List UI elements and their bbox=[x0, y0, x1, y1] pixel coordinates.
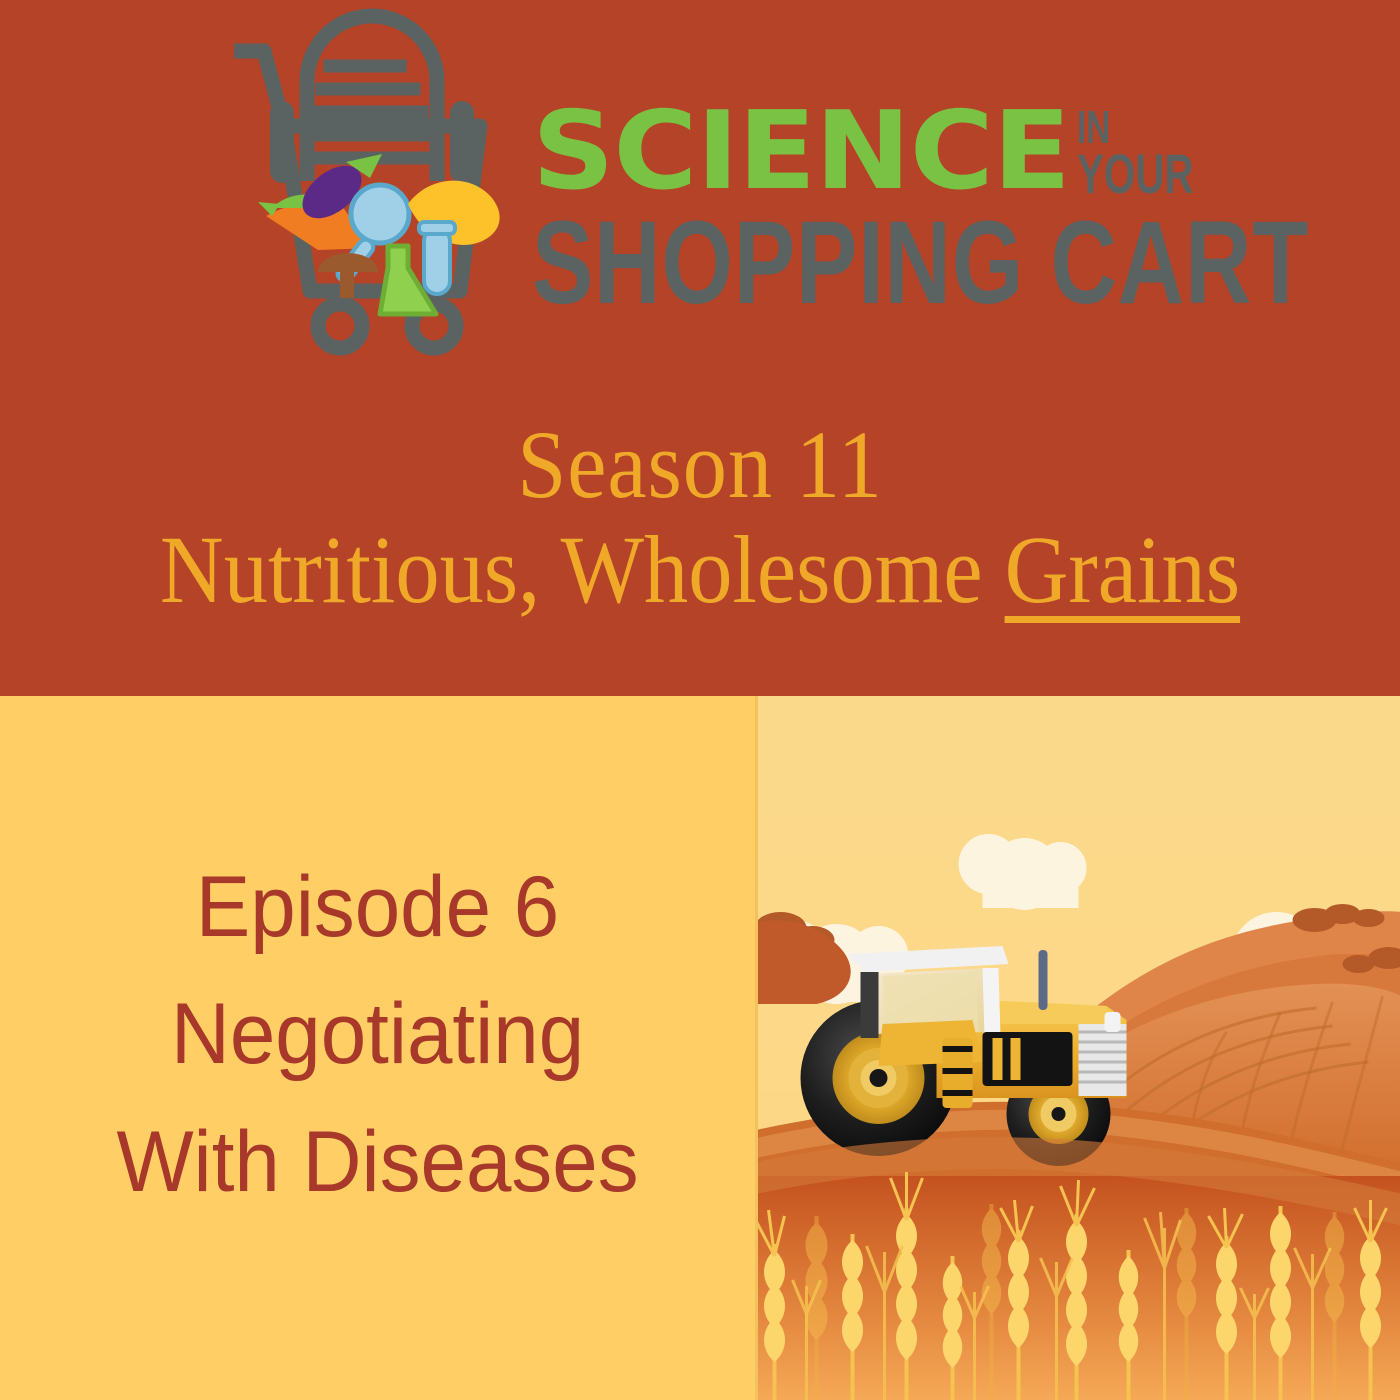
episode-panel: Episode 6 Negotiating With Diseases bbox=[0, 696, 755, 1400]
header-banner: SCIENCE IN YOUR SHOPPING CART Season 11 … bbox=[0, 0, 1400, 696]
season-number: Season 11 bbox=[56, 415, 1344, 516]
season-subtitle-keyword: Grains bbox=[1005, 516, 1240, 623]
episode-title-line-2: With Diseases bbox=[19, 1099, 736, 1226]
tractor-cab-pillar-right bbox=[983, 968, 1001, 1036]
tractor-exhaust bbox=[1039, 950, 1048, 1010]
episode-number: Episode 6 bbox=[19, 844, 736, 971]
season-subtitle: Nutritious, Wholesome Grains bbox=[56, 516, 1344, 624]
brand-logo: SCIENCE IN YOUR SHOPPING CART bbox=[222, 6, 1202, 356]
tractor-headlight bbox=[1105, 1012, 1121, 1032]
tractor-step-ladder bbox=[943, 1038, 973, 1108]
tractor-engine-vent bbox=[983, 1032, 1073, 1086]
tractor-grille bbox=[1079, 1024, 1127, 1096]
podcast-cover-art: SCIENCE IN YOUR SHOPPING CART Season 11 … bbox=[0, 0, 1400, 1400]
wordmark-in-your: IN YOUR bbox=[1077, 106, 1197, 200]
brand-wordmark: SCIENCE IN YOUR SHOPPING CART bbox=[532, 98, 1202, 310]
wordmark-your: YOUR bbox=[1077, 148, 1163, 200]
tractor-cab-pillar-left bbox=[861, 972, 879, 1038]
episode-title-line-1: Negotiating bbox=[19, 971, 736, 1098]
wordmark-science: SCIENCE bbox=[532, 98, 1070, 206]
wordmark-shopping-cart: SHOPPING CART bbox=[532, 204, 1309, 322]
season-subtitle-prefix: Nutritious, Wholesome bbox=[160, 516, 1005, 623]
tractor-in-wheat-field-illustration bbox=[755, 696, 1400, 1400]
season-title-block: Season 11 Nutritious, Wholesome Grains bbox=[0, 415, 1400, 623]
test-tube-icon bbox=[419, 222, 455, 294]
episode-title-block: Episode 6 Negotiating With Diseases bbox=[0, 844, 755, 1226]
microphone-shopping-cart-logo bbox=[222, 6, 522, 356]
